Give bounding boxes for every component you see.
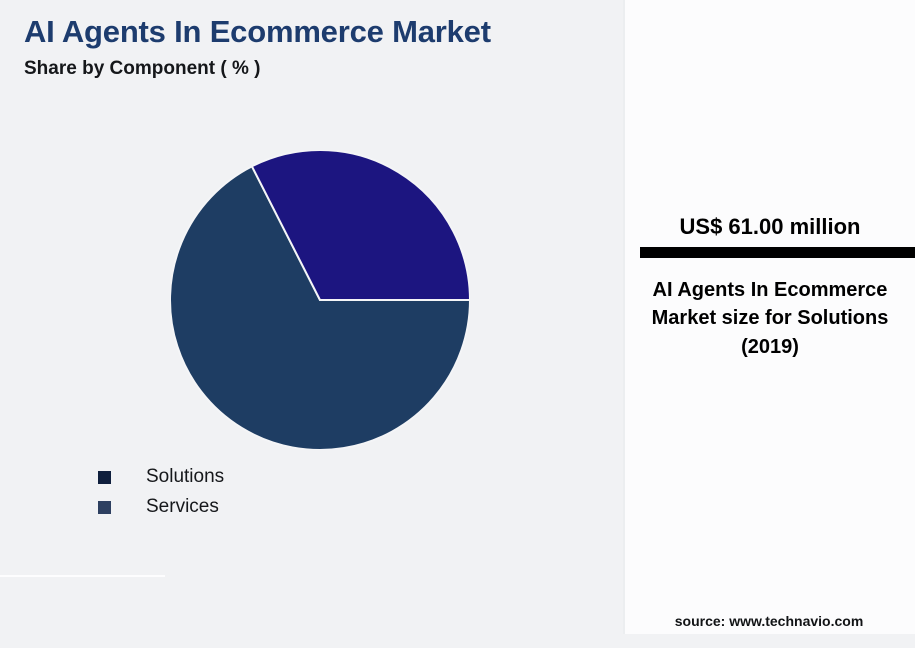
legend-swatch-solutions [98, 471, 111, 484]
chart-infographic: AI Agents In Ecommerce Market Share by C… [0, 0, 915, 648]
legend-item-solutions[interactable]: Solutions [98, 462, 224, 492]
chart-legend: Solutions Services [98, 462, 224, 522]
kpi-underline-bar [640, 247, 915, 258]
kpi-value: US$ 61.00 million [625, 214, 915, 240]
pie-chart-svg [170, 150, 470, 450]
kpi-caption: AI Agents In Ecommerce Market size for S… [641, 276, 899, 361]
chart-panel: AI Agents In Ecommerce Market Share by C… [0, 0, 623, 648]
kpi-panel: US$ 61.00 million AI Agents In Ecommerce… [623, 0, 915, 634]
page-title: AI Agents In Ecommerce Market [24, 14, 491, 50]
legend-swatch-services [98, 501, 111, 514]
chart-subtitle: Share by Component ( % ) [24, 58, 260, 80]
source-attribution: source: www.technavio.com [623, 613, 915, 629]
divider-rule [0, 575, 165, 577]
legend-label-solutions: Solutions [146, 466, 224, 488]
pie-chart [170, 150, 470, 450]
legend-item-services[interactable]: Services [98, 492, 224, 522]
legend-label-services: Services [146, 496, 219, 518]
